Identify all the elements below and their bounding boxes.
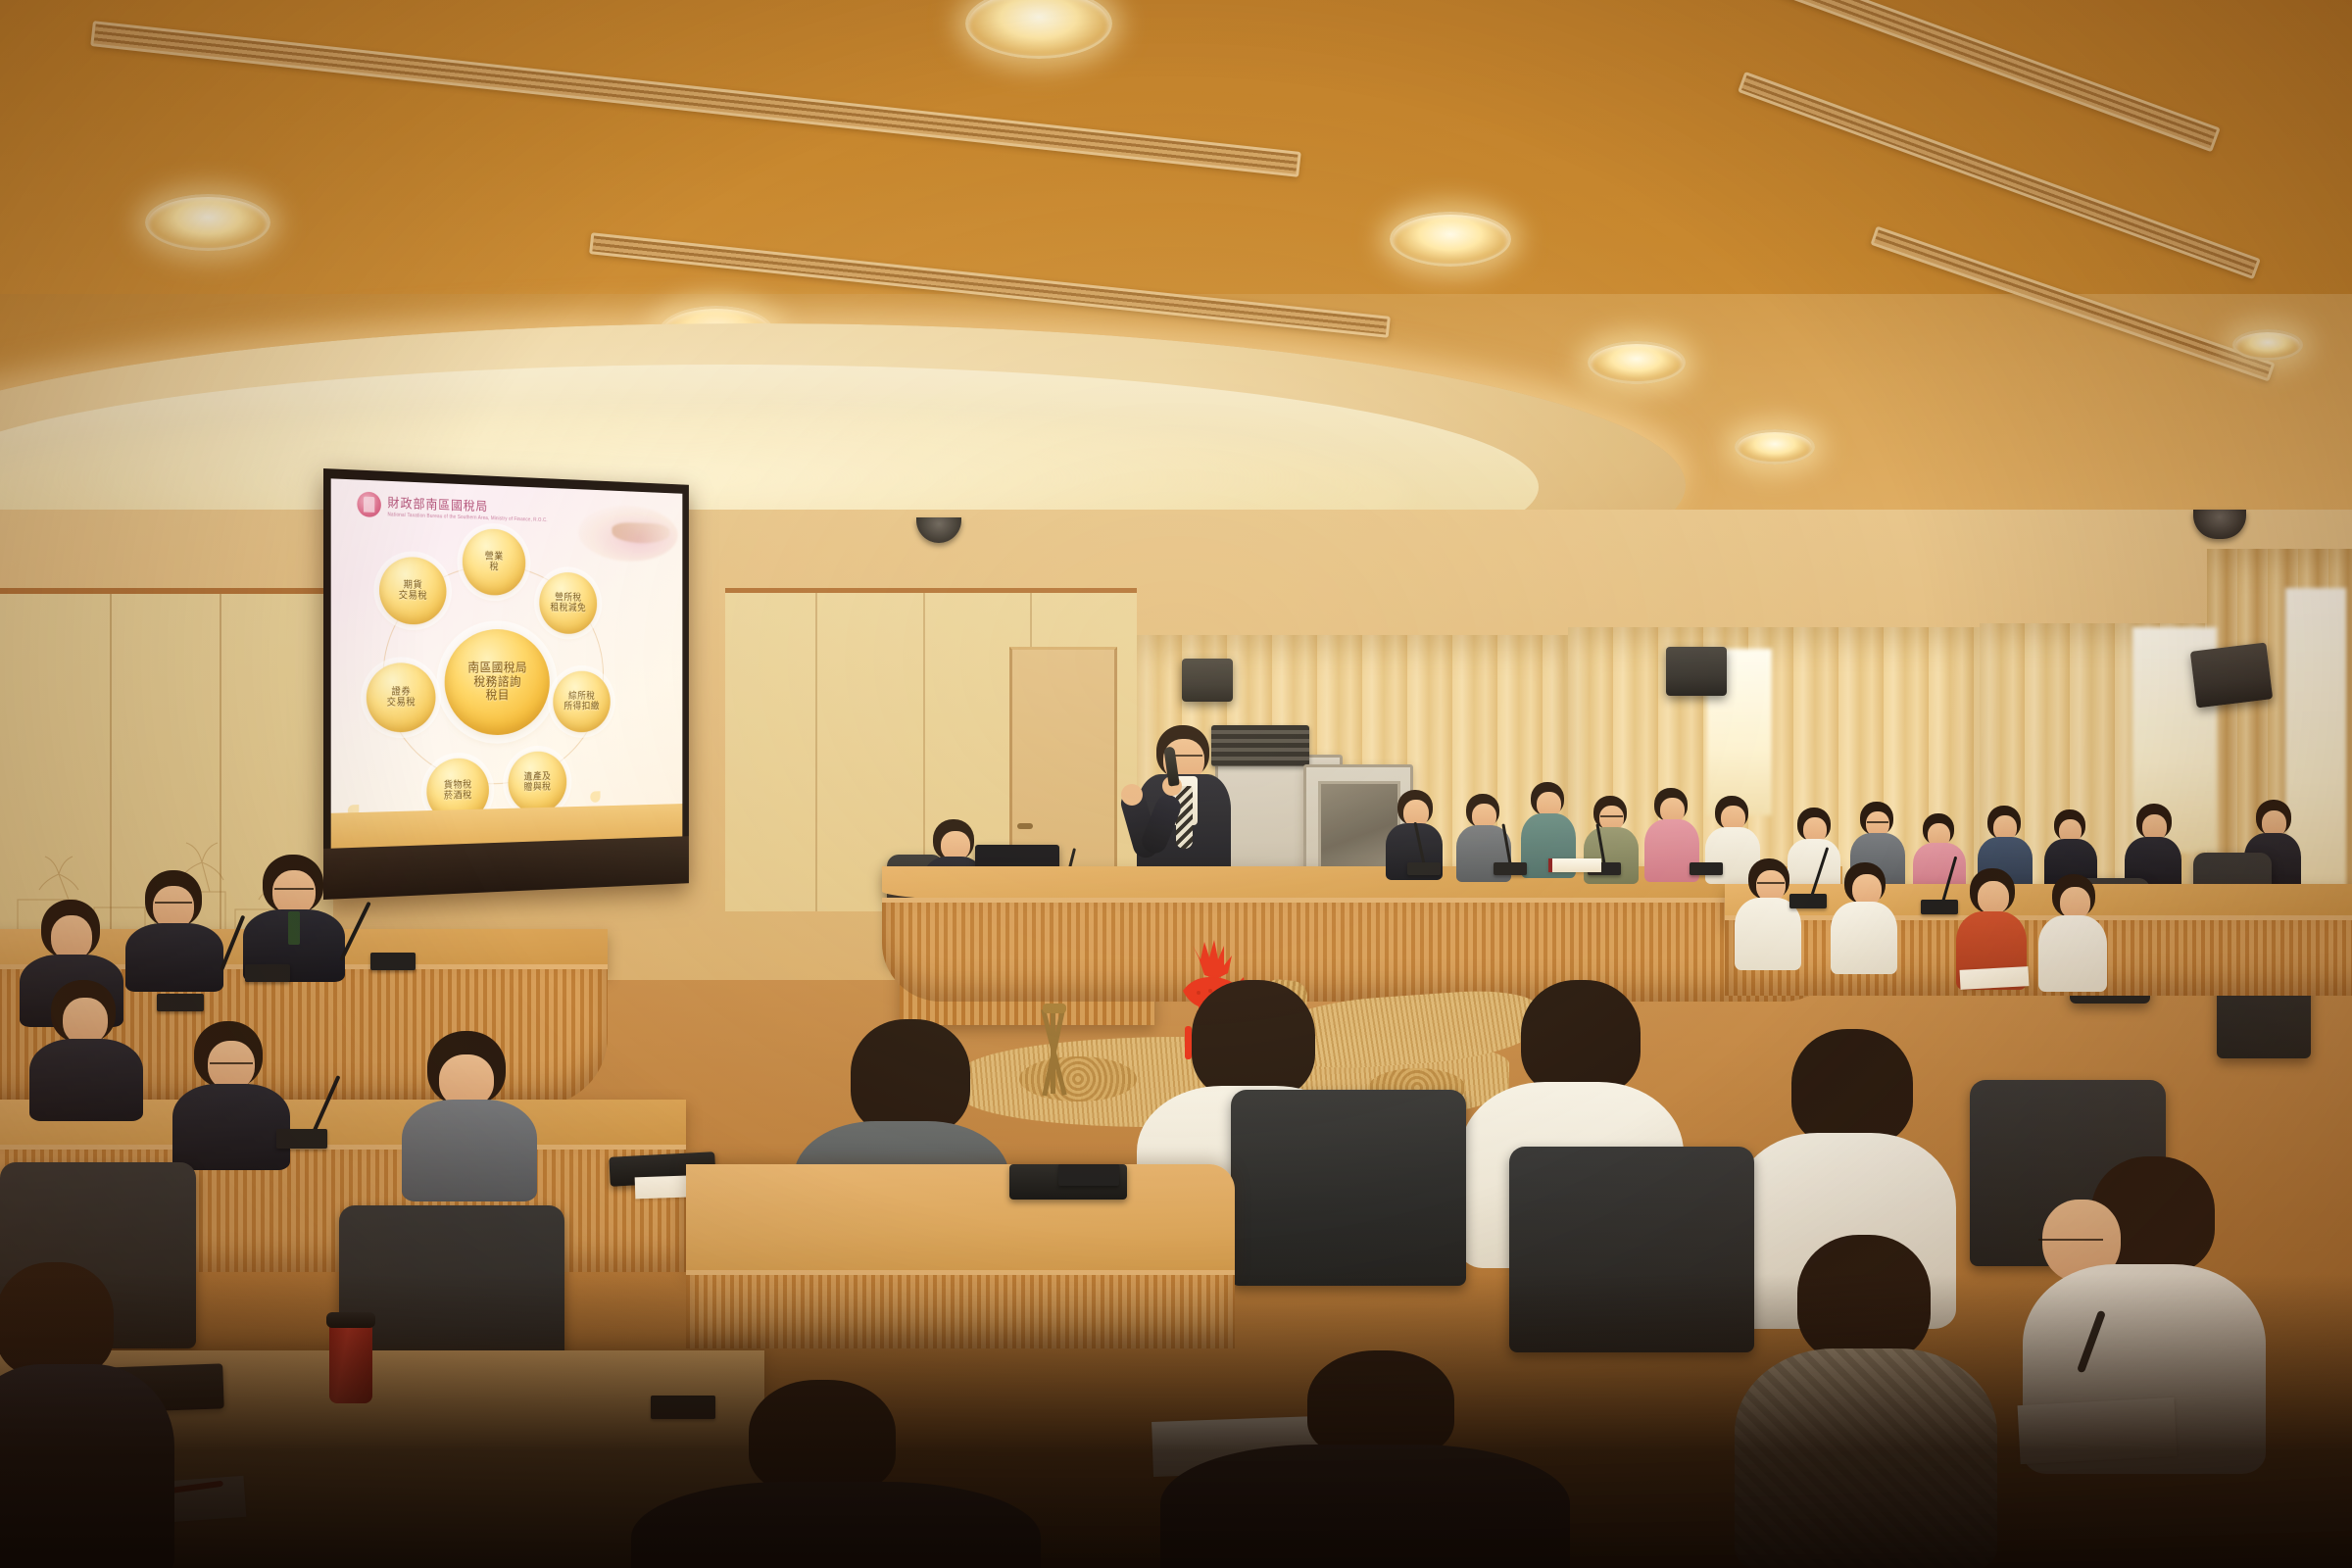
desk-mic-base: [1407, 862, 1441, 875]
tripod-leg-3: [1051, 1009, 1055, 1094]
desk-mic-base: [370, 953, 416, 970]
official-left-2: [125, 870, 227, 986]
wall-speaker-right: [2190, 642, 2273, 708]
desk-mic-base: [157, 994, 204, 1011]
slide-bubble-income-tax: 綜所稅 所得扣繳: [553, 671, 610, 733]
bubble-3-line2: 贈與稅: [524, 782, 552, 793]
bubble-6-line1: 期貨: [404, 580, 423, 591]
bubble-0-line1: 營業: [485, 552, 504, 563]
wall-speaker-left: [1182, 659, 1233, 702]
tumbler-lid[interactable]: [326, 1312, 375, 1328]
center-bubble-line3: 稅目: [486, 689, 510, 703]
rope-coil: [1019, 1056, 1137, 1102]
foreground-head: [1791, 1029, 1913, 1147]
audience-torso: [1831, 902, 1897, 974]
ceiling-downlight-2: [145, 194, 270, 251]
official-necktie: [288, 911, 300, 945]
foreground-chair-2[interactable]: [1509, 1147, 1754, 1352]
desk-mic-base: [1921, 900, 1958, 914]
slide-bubble-estate-gift-tax: 遺產及 贈與稅: [509, 751, 567, 813]
center-bubble-line2: 稅務諮詢: [473, 675, 521, 689]
foreground-head: [1307, 1350, 1454, 1458]
slide-bubble-business-tax: 營業 稅: [463, 528, 525, 596]
foreground-head: [749, 1380, 896, 1494]
bubble-4-line1: 貨物稅: [444, 780, 472, 792]
ceiling-downlight-5: [1390, 212, 1511, 267]
foreground-head: [1797, 1235, 1931, 1362]
bubble-6-line2: 交易稅: [399, 591, 427, 603]
attendee-left-row2-1: [29, 980, 147, 1117]
audience-right-mid-4: [2038, 874, 2109, 988]
foreground-glasses-icon: [2038, 1239, 2103, 1242]
audience-torso: [1735, 898, 1801, 970]
foreground-torso: [1735, 1348, 1997, 1568]
presenter-left-hand: [1121, 784, 1143, 806]
ceiling-downlight-6: [1588, 341, 1686, 384]
attendee-torso: [29, 1039, 143, 1121]
foreground-attendee-bottom-far-left: [0, 1262, 176, 1568]
slide-center-bubble: 南區國稅局 稅務諮詢 稅目: [445, 628, 550, 735]
desk-mic-base-bottom-center: [1058, 1164, 1119, 1186]
bubble-0-line2: 稅: [490, 562, 499, 572]
bubble-5-line2: 交易稅: [387, 698, 416, 709]
official-glasses-icon: [155, 902, 192, 905]
travel-tumbler[interactable]: [329, 1323, 372, 1403]
slide-petal-2: [590, 791, 600, 803]
ceiling: [0, 0, 2352, 549]
desk-mic-base: [1789, 894, 1827, 908]
notepad-right: [2018, 1397, 2178, 1464]
official-left-1: [243, 855, 349, 974]
desk-mic-base: [276, 1129, 327, 1149]
foreground-torso: [1160, 1445, 1570, 1568]
foreground-attendee-right-2: [1735, 1235, 1999, 1568]
audience-face: [1978, 881, 2009, 914]
ceiling-downlight-9: [2232, 329, 2303, 361]
slide-bubble-profit-seeking-tax: 營所稅 租稅減免: [539, 571, 597, 634]
audience-torso: [2038, 915, 2107, 992]
foreground-torso: [0, 1364, 174, 1568]
tripod-apex: [1043, 1004, 1066, 1013]
slide-bubble-securities-tax: 證券 交易稅: [367, 662, 436, 732]
attendee-torso: [172, 1084, 290, 1170]
foreground-attendee-bottom-center: [1160, 1350, 1572, 1568]
attendee-face: [208, 1041, 255, 1090]
attendee-glasses-icon: [210, 1062, 253, 1065]
ceiling-downlight-7: [1735, 429, 1815, 465]
foreground-head: [0, 1262, 114, 1376]
audience-torso: [1584, 827, 1639, 884]
projection-screen-surface: 財政部南區國稅局 National Taxation Bureau of the…: [331, 478, 683, 848]
foreground-torso: [631, 1482, 1041, 1568]
attendee-left-row2-3: [402, 1031, 539, 1198]
bubble-1-line2: 租稅減免: [550, 603, 586, 613]
center-bubble-line1: 南區國稅局: [467, 661, 527, 675]
bubble-3-line1: 遺產及: [524, 771, 552, 782]
attendee-torso: [402, 1100, 537, 1201]
audience-glasses-icon: [1757, 882, 1785, 885]
foreground-head: [1521, 980, 1641, 1096]
audience-right-mid-1: [1735, 858, 1803, 966]
desk-mic-base: [1690, 862, 1723, 875]
bubble-2-line1: 綜所稅: [568, 691, 595, 702]
desk-mic-base: [1494, 862, 1527, 875]
desk-paper-right: [1960, 966, 2030, 990]
slide-bubble-futures-tax: 期貨 交易稅: [379, 557, 446, 625]
bubble-1-line1: 營所稅: [555, 593, 582, 604]
bubble-5-line1: 證券: [392, 687, 412, 698]
foreground-attendee-bottom-left: [631, 1380, 1043, 1568]
foreground-chair-1[interactable]: [1231, 1090, 1466, 1286]
bureau-seal-icon: [357, 491, 381, 517]
foreground-head: [1192, 980, 1315, 1100]
official-glasses-icon: [274, 888, 314, 891]
foreground-desk-center-front: [686, 1270, 1235, 1348]
attendee-face: [63, 998, 108, 1045]
audience-glasses-icon: [1867, 821, 1888, 824]
door-handle[interactable]: [1017, 823, 1033, 829]
desk-mic-base: [245, 964, 290, 982]
bubble-2-line2: 所得扣繳: [563, 702, 599, 712]
desk-nameplate: [1548, 858, 1601, 872]
bubble-4-line2: 菸酒稅: [444, 791, 472, 803]
audience-glasses-icon: [1600, 815, 1623, 818]
foreground-head: [851, 1019, 970, 1135]
audience-right-mid-2: [1831, 862, 1899, 970]
presenter-necktie: [1176, 786, 1193, 849]
conference-room-photo: 財政部南區國稅局 National Taxation Bureau of the…: [0, 0, 2352, 1568]
center-desk-front-panel: [882, 898, 1842, 1002]
slide-org-header: 財政部南區國稅局 National Taxation Bureau of the…: [357, 491, 547, 523]
foreground-desk-center: [686, 1164, 1235, 1282]
projection-screen[interactable]: 財政部南區國稅局 National Taxation Bureau of the…: [323, 468, 689, 900]
wall-speaker-center: [1666, 647, 1727, 696]
